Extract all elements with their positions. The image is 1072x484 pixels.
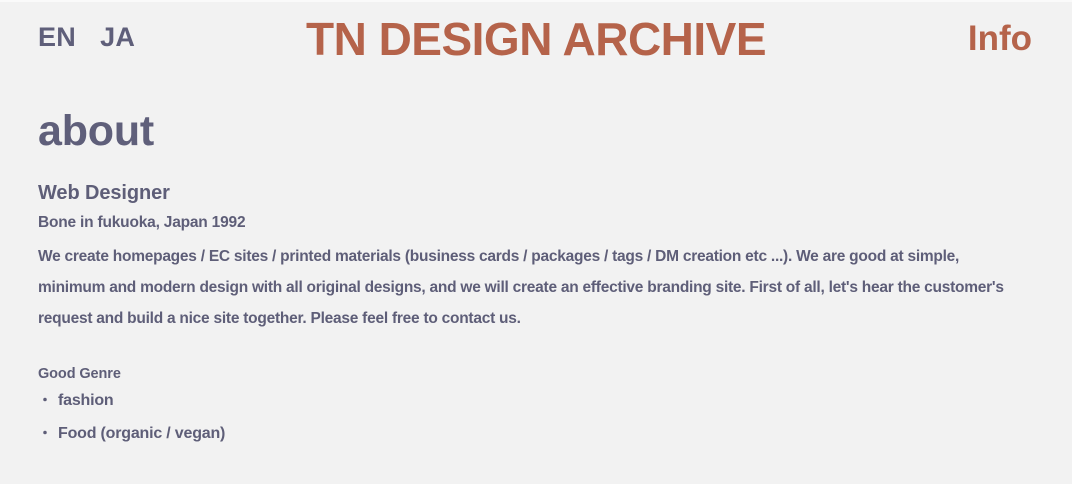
- page-root: EN JA TN DESIGN ARCHIVE Info about Web D…: [0, 0, 1072, 484]
- role-heading: Web Designer: [38, 181, 1034, 205]
- bullet-icon: ・: [38, 393, 58, 407]
- site-header: EN JA TN DESIGN ARCHIVE Info: [0, 2, 1072, 90]
- list-item: ・ Food (organic / vegan): [38, 426, 1034, 442]
- bullet-icon: ・: [38, 426, 58, 440]
- list-item-label: Food (organic / vegan): [58, 426, 225, 442]
- main-content: about Web Designer Bone in fukuoka, Japa…: [38, 108, 1034, 459]
- intro-paragraph: We create homepages / EC sites / printed…: [38, 241, 1023, 334]
- birth-line: Bone in fukuoka, Japan 1992: [38, 213, 1034, 232]
- list-item-label: fashion: [58, 393, 114, 409]
- site-title[interactable]: TN DESIGN ARCHIVE: [0, 14, 1072, 65]
- genre-heading: Good Genre: [38, 366, 1034, 383]
- page-title: about: [38, 108, 1034, 155]
- info-link[interactable]: Info: [968, 20, 1032, 59]
- genre-list: ・ fashion ・ Food (organic / vegan): [38, 393, 1034, 442]
- list-item: ・ fashion: [38, 393, 1034, 409]
